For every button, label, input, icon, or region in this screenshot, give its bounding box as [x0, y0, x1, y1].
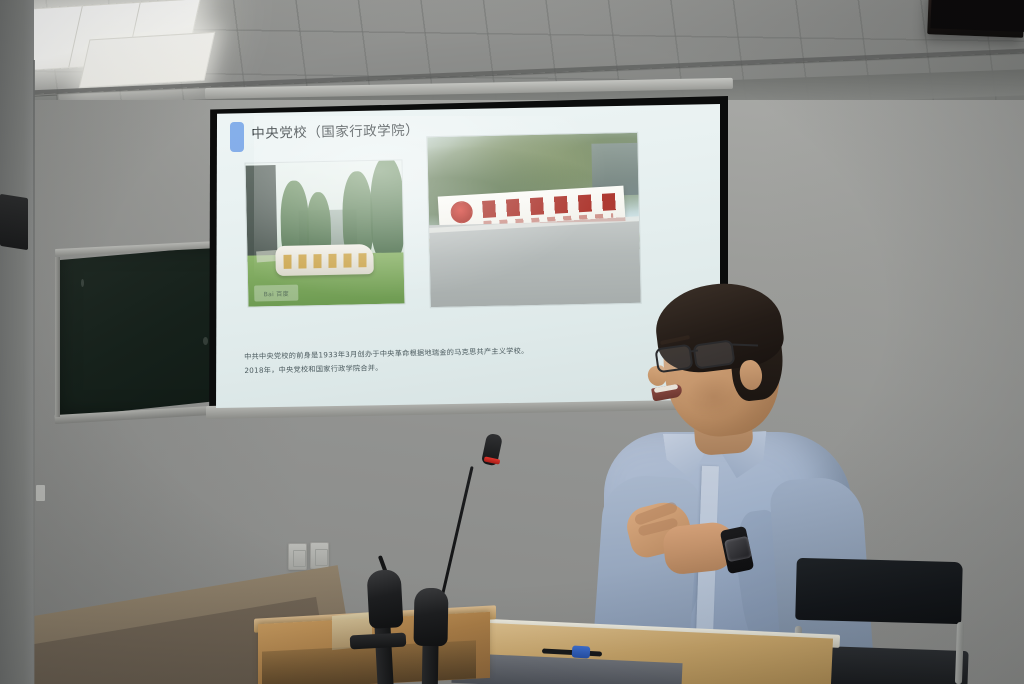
wall-outlet-plate[interactable]: [288, 543, 307, 570]
fluorescent-light-panel-secondary: [79, 32, 216, 88]
chalk-smudge: [81, 279, 84, 287]
wall-outlet-plate[interactable]: [310, 542, 329, 569]
wall-corner-edge: [33, 60, 35, 684]
slide-photo-campus-monument: Bai 百度: [244, 159, 405, 307]
wall-switch-plate[interactable]: [36, 485, 45, 501]
chalkboard-frame-left: [55, 257, 60, 417]
photo-monument-inscription: [283, 253, 367, 269]
slide-accent-bar: [230, 122, 244, 152]
photo-stone-monument: [275, 244, 374, 276]
handheld-microphone[interactable]: [367, 569, 404, 629]
photo-tree: [369, 159, 405, 261]
handheld-microphone-handle[interactable]: [421, 640, 438, 684]
microphone-stand-base[interactable]: [350, 633, 407, 650]
chair-backrest: [795, 558, 963, 624]
blue-cable-plug[interactable]: [572, 645, 591, 658]
national-emblem-icon: [450, 201, 473, 224]
photo-building-left: [246, 165, 278, 262]
ceiling: [0, 0, 1024, 112]
wall-mounted-monitor: [927, 0, 1024, 38]
wall-speaker: [0, 194, 28, 250]
side-wall: [0, 0, 34, 684]
chalk-smudge: [203, 337, 208, 345]
classroom-photo-scene: 中央党校（国家行政学院） Bai 百度: [0, 0, 1024, 684]
monitor-bezel: [930, 0, 1024, 32]
glasses-icon: [654, 344, 693, 374]
baidu-watermark: Bai 百度: [254, 285, 298, 302]
handheld-microphone[interactable]: [413, 588, 448, 647]
